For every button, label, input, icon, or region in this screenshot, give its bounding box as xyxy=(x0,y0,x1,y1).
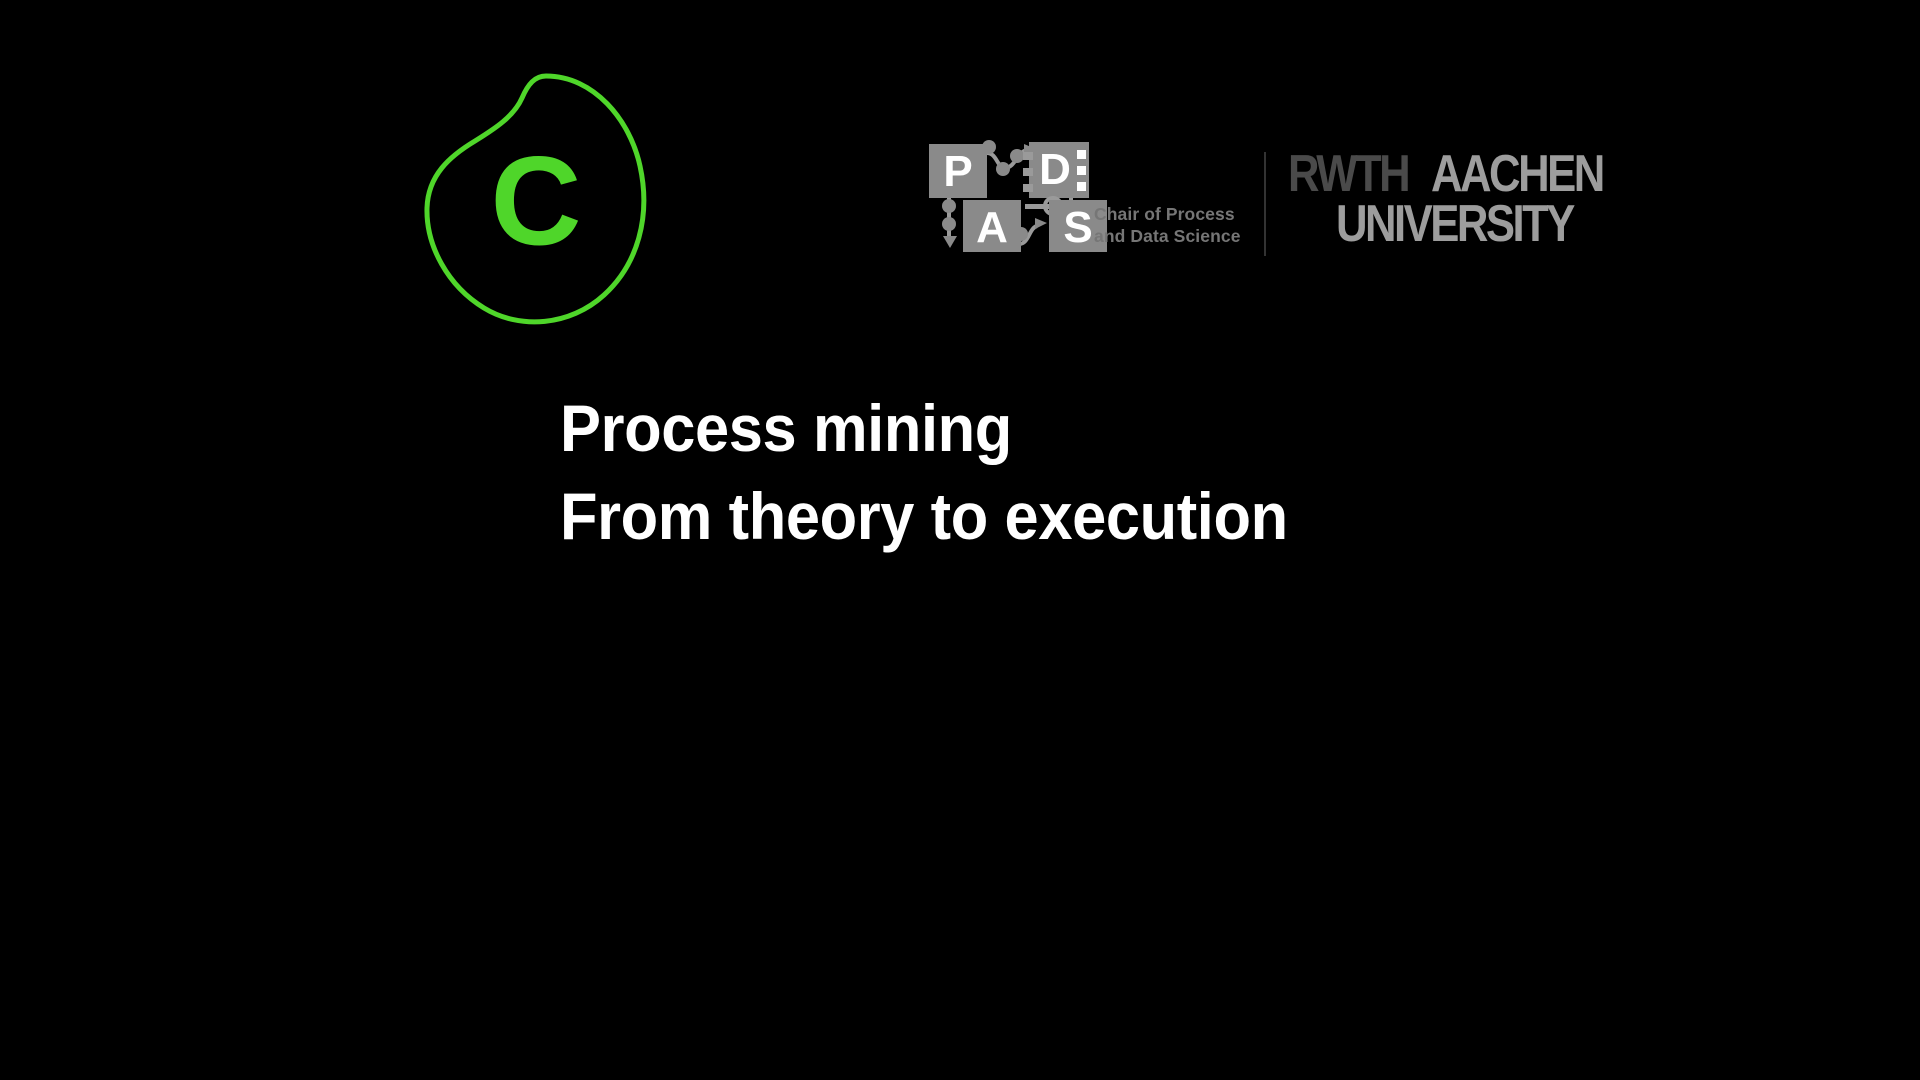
pads-box-p-letter: P xyxy=(943,147,972,196)
pads-box-p: P xyxy=(929,144,987,198)
rwth-logo-line-1: RWTH AACHEN xyxy=(1288,148,1635,200)
pads-node xyxy=(996,162,1010,176)
pads-box-a-letter: A xyxy=(976,203,1008,252)
celonis-blob-c-logo: C xyxy=(418,68,658,328)
pads-node xyxy=(1010,149,1024,163)
aachen-wordmark: AACHEN xyxy=(1431,148,1603,200)
pads-node xyxy=(942,217,956,231)
pads-tagline: Chair of Process and Data Science xyxy=(1094,203,1274,247)
pads-arrow xyxy=(1035,218,1047,229)
university-wordmark: UNIVERSITY xyxy=(1336,198,1573,250)
slide-title-line-1: Process mining xyxy=(560,384,1288,472)
pads-box-s-letter: S xyxy=(1063,203,1092,252)
pads-node xyxy=(942,199,956,213)
pads-arrow xyxy=(943,236,957,248)
pads-box-a: A xyxy=(963,200,1021,252)
title-slide: C xyxy=(0,0,1920,1080)
pads-box-d-letter: D xyxy=(1039,145,1071,194)
rwth-aachen-university-logo: RWTH AACHEN UNIVERSITY xyxy=(1288,148,1548,254)
rwth-wordmark: RWTH xyxy=(1288,148,1408,200)
slide-title-block: Process mining From theory to execution xyxy=(560,384,1343,560)
celonis-c-letter: C xyxy=(491,130,582,271)
logo-divider xyxy=(1264,152,1266,256)
slide-title-line-2: From theory to execution xyxy=(560,472,1288,560)
